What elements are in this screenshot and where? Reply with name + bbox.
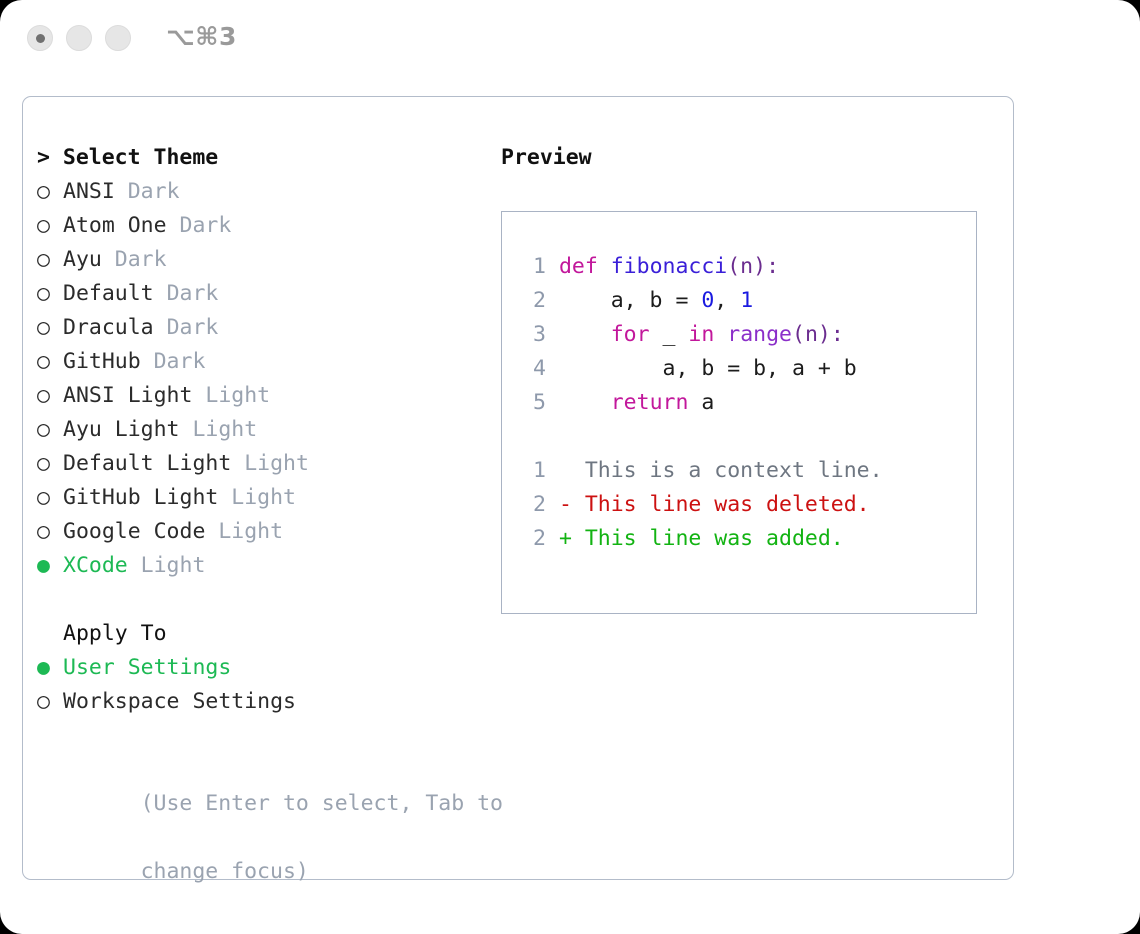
theme-list-item[interactable]: ○Ayu Light Light [37,413,487,447]
code-token: for [611,322,650,347]
code-line: 5 return a [516,386,976,420]
theme-selection-column: > Select Theme ○ANSI Dark○Atom One Dark○… [37,141,487,923]
theme-list[interactable]: ○ANSI Dark○Atom One Dark○Ayu Dark○Defaul… [37,175,487,583]
code-token: range [727,322,792,347]
line-number: 3 [516,318,546,352]
code-sample: 1 def fibonacci(n):2 a, b = 0, 13 for _ … [516,250,976,420]
theme-name: ANSI [63,179,128,204]
theme-name: Default Light [63,451,244,476]
line-number: 5 [516,386,546,420]
code-token [559,322,611,347]
apply-to-option[interactable]: ○Workspace Settings [37,685,487,719]
code-token: _ [650,322,689,347]
radio-unselected-icon: ○ [37,277,63,311]
theme-variant: Light [231,485,296,510]
radio-unselected-icon: ○ [37,175,63,209]
code-token: (n): [792,322,844,347]
radio-unselected-icon: ○ [37,447,63,481]
line-number: 2 [516,488,546,522]
hint-line-1: (Use Enter to select, Tab to [141,791,503,816]
apply-to-heading: Apply To [37,617,487,651]
theme-list-item[interactable]: ●XCode Light [37,549,487,583]
code-diff-spacer [516,420,976,454]
theme-list-item[interactable]: ○Atom One Dark [37,209,487,243]
theme-variant: Light [205,383,270,408]
apply-to-option[interactable]: ●User Settings [37,651,487,685]
diff-text: + This line was added. [559,526,844,551]
window-traffic-lights [27,25,131,51]
code-line: 2 a, b = 0, 1 [516,284,976,318]
theme-name: Ayu Light [63,417,192,442]
line-number: 1 [516,250,546,284]
theme-list-item[interactable]: ○ANSI Light Light [37,379,487,413]
traffic-light-active[interactable] [27,25,53,51]
theme-picker-panel: > Select Theme ○ANSI Dark○Atom One Dark○… [22,96,1014,880]
theme-list-item[interactable]: ○Dracula Dark [37,311,487,345]
title-bar: ⌥⌘3 [0,0,1140,78]
apply-to-label: User Settings [63,655,231,680]
radio-unselected-icon: ○ [37,379,63,413]
select-theme-heading: > Select Theme [37,141,487,175]
line-number: 2 [516,522,546,556]
theme-variant: Light [192,417,257,442]
preview-heading: Preview [501,141,1001,175]
traffic-light-pip-icon [36,34,45,43]
preview-box: 1 def fibonacci(n):2 a, b = 0, 13 for _ … [501,211,977,614]
diff-sample: 1 This is a context line.2 - This line w… [516,454,976,556]
diff-text: - This line was deleted. [559,492,870,517]
radio-unselected-icon: ○ [37,413,63,447]
theme-name: Google Code [63,519,218,544]
theme-name: GitHub Light [63,485,231,510]
code-token [559,390,611,415]
code-token: (n): [727,254,779,279]
theme-variant: Dark [167,281,219,306]
code-token: in [688,322,714,347]
hint-line-2: change focus) [141,859,309,884]
app-window: ⌥⌘3 > Select Theme ○ANSI Dark○Atom One D… [0,0,1140,934]
preview-column: Preview 1 def fibonacci(n):2 a, b = 0, 1… [501,141,1001,614]
theme-variant: Light [218,519,283,544]
theme-list-item[interactable]: ○GitHub Dark [37,345,487,379]
line-number: 1 [516,454,546,488]
code-line: 1 def fibonacci(n): [516,250,976,284]
diff-line: 1 This is a context line. [516,454,976,488]
theme-variant: Light [244,451,309,476]
code-token [714,322,727,347]
traffic-light-3[interactable] [105,25,131,51]
theme-list-item[interactable]: ○Default Light Light [37,447,487,481]
theme-name: Default [63,281,167,306]
theme-list-item[interactable]: ○GitHub Light Light [37,481,487,515]
theme-name: GitHub [63,349,154,374]
theme-variant: Dark [128,179,180,204]
apply-to-options[interactable]: ●User Settings○Workspace Settings [37,651,487,719]
theme-name: ANSI Light [63,383,205,408]
theme-list-item[interactable]: ○Google Code Light [37,515,487,549]
theme-list-item[interactable]: ○Default Dark [37,277,487,311]
radio-unselected-icon: ○ [37,515,63,549]
code-token: a [688,390,714,415]
apply-to-label: Workspace Settings [63,689,296,714]
line-number: 4 [516,352,546,386]
code-token: 1 [740,288,753,313]
radio-unselected-icon: ○ [37,243,63,277]
theme-variant: Dark [154,349,206,374]
radio-unselected-icon: ○ [37,481,63,515]
code-token: , [714,288,740,313]
theme-name: Dracula [63,315,167,340]
traffic-light-2[interactable] [66,25,92,51]
radio-unselected-icon: ○ [37,685,63,719]
diff-line: 2 - This line was deleted. [516,488,976,522]
code-token: def [559,254,611,279]
radio-unselected-icon: ○ [37,311,63,345]
theme-list-item[interactable]: ○Ayu Dark [37,243,487,277]
theme-variant: Light [141,553,206,578]
theme-variant: Dark [167,315,219,340]
radio-unselected-icon: ○ [37,209,63,243]
radio-selected-icon: ● [37,549,63,583]
diff-text: This is a context line. [559,458,883,483]
code-token: return [611,390,689,415]
theme-list-item[interactable]: ○ANSI Dark [37,175,487,209]
theme-variant: Dark [115,247,167,272]
hint-text: (Use Enter to select, Tab to change focu… [37,753,487,923]
radio-unselected-icon: ○ [37,345,63,379]
code-token: fibonacci [611,254,728,279]
line-number: 2 [516,284,546,318]
code-line: 4 a, b = b, a + b [516,352,976,386]
theme-name: XCode [63,553,141,578]
radio-selected-icon: ● [37,651,63,685]
theme-name: Ayu [63,247,115,272]
keyboard-shortcut-label: ⌥⌘3 [166,22,237,51]
diff-line: 2 + This line was added. [516,522,976,556]
code-token: a, b = b, a + b [559,356,857,381]
theme-name: Atom One [63,213,180,238]
code-line: 3 for _ in range(n): [516,318,976,352]
code-token: 0 [701,288,714,313]
code-token: a, b = [559,288,701,313]
theme-variant: Dark [180,213,232,238]
